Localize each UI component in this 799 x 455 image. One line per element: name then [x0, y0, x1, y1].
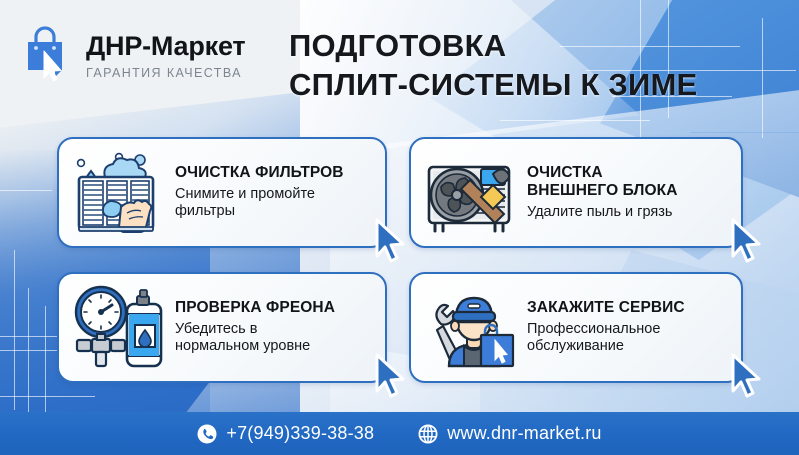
website-url: www.dnr-market.ru	[447, 423, 601, 444]
card-title: ЗАКАЖИТЕ СЕРВИС	[527, 299, 685, 317]
card-description: Снимите и промойте фильтры	[175, 186, 344, 221]
accent-line	[500, 120, 650, 121]
technician-wrench-bag-icon	[419, 282, 523, 374]
globe-icon	[418, 424, 438, 444]
accent-line	[28, 288, 29, 418]
footer-phone[interactable]: +7(949)339-38-38	[197, 423, 374, 444]
outdoor-unit-brush-icon	[419, 147, 523, 239]
card-ochistka-filtrov[interactable]: ОЧИСТКА ФИЛЬТРОВ Снимите и промойте филь…	[57, 137, 387, 248]
card-description: Профессиональное обслуживание	[527, 321, 685, 356]
card-proverka-freona[interactable]: ПРОВЕРКА ФРЕОНА Убедитесь в нормальном у…	[57, 272, 387, 383]
accent-line	[690, 132, 799, 133]
card-title: ОЧИСТКА ФИЛЬТРОВ	[175, 164, 344, 182]
footer-website[interactable]: www.dnr-market.ru	[418, 423, 601, 444]
phone-icon	[197, 424, 217, 444]
contact-footer: +7(949)339-38-38 www.dnr-market.ru	[0, 412, 799, 455]
card-zakazhite-servis[interactable]: ЗАКАЖИТЕ СЕРВИС Профессиональное обслужи…	[409, 272, 743, 383]
accent-line	[762, 18, 763, 138]
brand-tagline: ГАРАНТИЯ КАЧЕСТВА	[86, 67, 245, 80]
cursor-arrow-icon	[367, 216, 411, 266]
brand-logo[interactable]: ДНР-Маркет ГАРАНТИЯ КАЧЕСТВА	[22, 26, 245, 86]
headline-line-1: ПОДГОТОВКА	[289, 26, 697, 65]
shopping-bag-cursor-icon	[22, 26, 74, 86]
card-title: ОЧИСТКА ВНЕШНЕГО БЛОКА	[527, 164, 678, 200]
headline-line-2: СПЛИТ-СИСТЕМЫ К ЗИМЕ	[289, 65, 697, 104]
brand-name: ДНР-Маркет	[86, 33, 245, 60]
accent-line	[0, 190, 52, 191]
card-description: Удалите пыль и грязь	[527, 204, 678, 221]
page-title: ПОДГОТОВКА СПЛИТ-СИСТЕМЫ К ЗИМЕ	[289, 26, 697, 104]
card-ochistka-vneshnego-bloka[interactable]: ОЧИСТКА ВНЕШНЕГО БЛОКА Удалите пыль и гр…	[409, 137, 743, 248]
phone-number: +7(949)339-38-38	[226, 423, 374, 444]
air-filter-cleaning-icon	[67, 147, 171, 239]
poster-canvas: ДНР-Маркет ГАРАНТИЯ КАЧЕСТВА ПОДГОТОВКА …	[0, 0, 799, 455]
cursor-arrow-icon	[723, 216, 767, 266]
cursor-arrow-icon	[723, 351, 767, 401]
card-title: ПРОВЕРКА ФРЕОНА	[175, 299, 335, 317]
pressure-gauge-refrigerant-icon	[67, 282, 171, 374]
accent-line	[0, 396, 95, 397]
cursor-arrow-icon	[367, 351, 411, 401]
accent-line	[14, 250, 15, 410]
card-description: Убедитесь в нормальном уровне	[175, 321, 335, 356]
